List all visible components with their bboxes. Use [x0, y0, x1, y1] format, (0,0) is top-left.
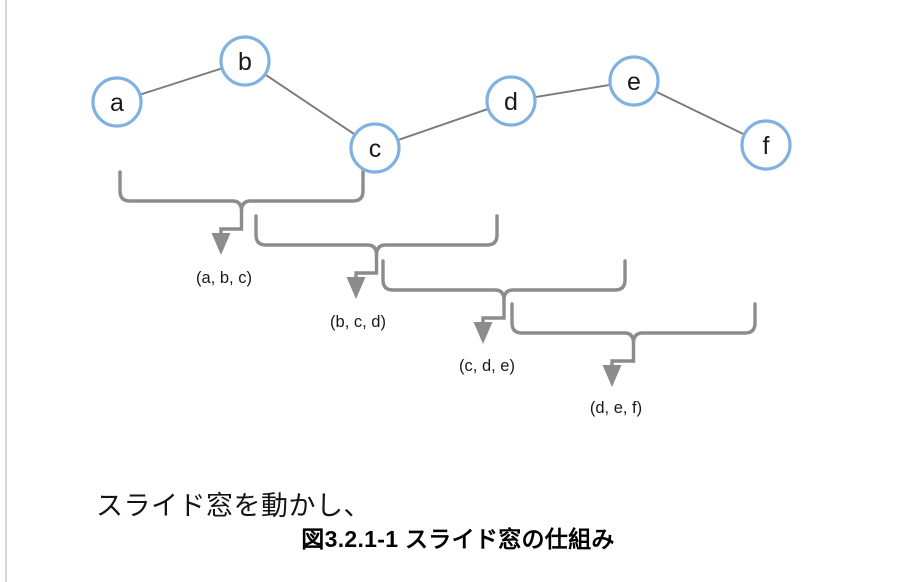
graph-node-b[interactable]: b: [221, 37, 269, 85]
window-brace-3: [383, 261, 625, 300]
graph-node-e[interactable]: e: [610, 57, 658, 105]
graph-node-f[interactable]: f: [742, 121, 790, 169]
node-label-f: f: [763, 132, 770, 160]
window-brace-4: [512, 304, 755, 343]
window-brace-1: [120, 172, 363, 211]
node-label-c: c: [369, 135, 382, 163]
window-label-1: (a, b, c): [196, 269, 252, 287]
window-brace-2: [256, 216, 497, 255]
nodes-layer: abcdef: [93, 37, 790, 172]
edge-c-d: [399, 109, 487, 139]
window-label-3: (c, d, e): [459, 357, 515, 375]
node-label-a: a: [110, 89, 124, 117]
edge-a-b: [141, 69, 220, 94]
edge-d-e: [536, 85, 609, 97]
graph-node-c[interactable]: c: [351, 124, 399, 172]
window-arrow-stem-3: [483, 300, 504, 322]
window-arrow-head-4: [603, 365, 622, 387]
window-arrow-stem-2: [356, 255, 377, 277]
node-label-b: b: [238, 48, 252, 76]
window-arrow-head-3: [474, 322, 493, 344]
figure-caption: 図3.2.1-1 スライド窓の仕組み: [0, 520, 916, 554]
edge-b-c: [266, 75, 354, 134]
node-label-d: d: [504, 88, 518, 116]
annotation-text: スライド窓を動かし、 部分時系列データを作成: [60, 418, 371, 582]
node-label-e: e: [627, 68, 641, 96]
window-arrow-stem-1: [221, 211, 242, 233]
window-arrow-head-1: [212, 233, 231, 255]
figure-page: abcdef (a, b, c)(b, c, d)(c, d, e)(d, e,…: [0, 0, 916, 582]
graph-node-d[interactable]: d: [487, 77, 535, 125]
window-label-2: (b, c, d): [330, 313, 386, 331]
window-label-4: (d, e, f): [590, 399, 642, 417]
window-arrow-head-2: [347, 277, 366, 299]
edge-e-f: [657, 92, 743, 134]
graph-node-a[interactable]: a: [93, 78, 141, 126]
window-arrow-stem-4: [612, 343, 634, 365]
